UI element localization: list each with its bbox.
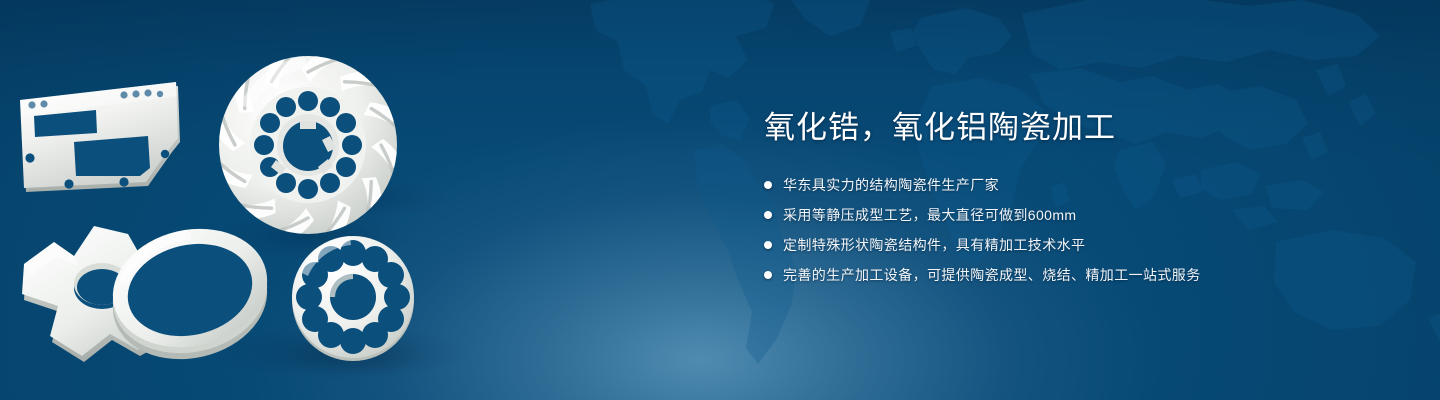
list-item: 华东具实力的结构陶瓷件生产厂家 xyxy=(764,174,1364,196)
ceramic-products-banner: 氧化锆，氧化铝陶瓷加工 华东具实力的结构陶瓷件生产厂家 采用等静压成型工艺，最大… xyxy=(0,0,1440,400)
list-item-label: 定制特殊形状陶瓷结构件，具有精加工技术水平 xyxy=(783,234,1085,256)
bullet-dot-icon xyxy=(764,181,772,189)
list-item-label: 完善的生产加工设备，可提供陶瓷成型、烧结、精加工一站式服务 xyxy=(783,264,1201,286)
banner-copy: 氧化锆，氧化铝陶瓷加工 华东具实力的结构陶瓷件生产厂家 采用等静压成型工艺，最大… xyxy=(764,108,1364,286)
list-item: 完善的生产加工设备，可提供陶瓷成型、烧结、精加工一站式服务 xyxy=(764,264,1364,286)
page-title: 氧化锆，氧化铝陶瓷加工 xyxy=(764,108,1364,148)
list-item-label: 采用等静压成型工艺，最大直径可做到600mm xyxy=(783,204,1076,226)
list-item: 采用等静压成型工艺，最大直径可做到600mm xyxy=(764,204,1364,226)
bullet-dot-icon xyxy=(764,211,772,219)
list-item-label: 华东具实力的结构陶瓷件生产厂家 xyxy=(783,174,999,196)
list-item: 定制特殊形状陶瓷结构件，具有精加工技术水平 xyxy=(764,234,1364,256)
bullet-dot-icon xyxy=(764,241,772,249)
feature-list: 华东具实力的结构陶瓷件生产厂家 采用等静压成型工艺，最大直径可做到600mm 定… xyxy=(764,174,1364,286)
bullet-dot-icon xyxy=(764,271,772,279)
